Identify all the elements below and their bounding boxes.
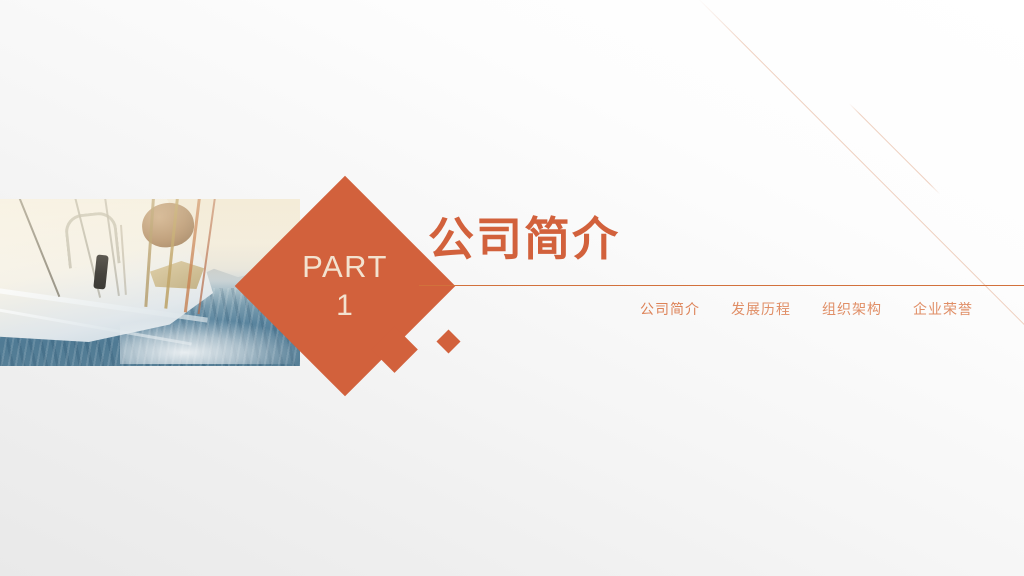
boat-rail <box>63 210 120 268</box>
page-title: 公司简介 <box>428 214 620 265</box>
nav-item-development-history[interactable]: 发展历程 <box>731 299 791 319</box>
nav-item-company-profile[interactable]: 公司简介 <box>640 299 700 319</box>
part-label: PART <box>302 251 388 282</box>
part-number: 1 <box>336 291 354 321</box>
nav-item-corporate-honors[interactable]: 企业荣誉 <box>913 299 973 319</box>
decorative-diagonal-line-short <box>849 103 940 194</box>
decorative-diagonal-line-long <box>697 0 1024 394</box>
title-divider-rule <box>419 285 1024 286</box>
nav-item-org-structure[interactable]: 组织架构 <box>822 299 882 319</box>
slide-canvas: PART 1 公司简介 公司简介 发展历程 组织架构 企业荣誉 <box>0 0 1024 576</box>
accent-diamond-small <box>436 329 460 353</box>
section-nav: 公司简介 发展历程 组织架构 企业荣誉 <box>640 299 973 319</box>
